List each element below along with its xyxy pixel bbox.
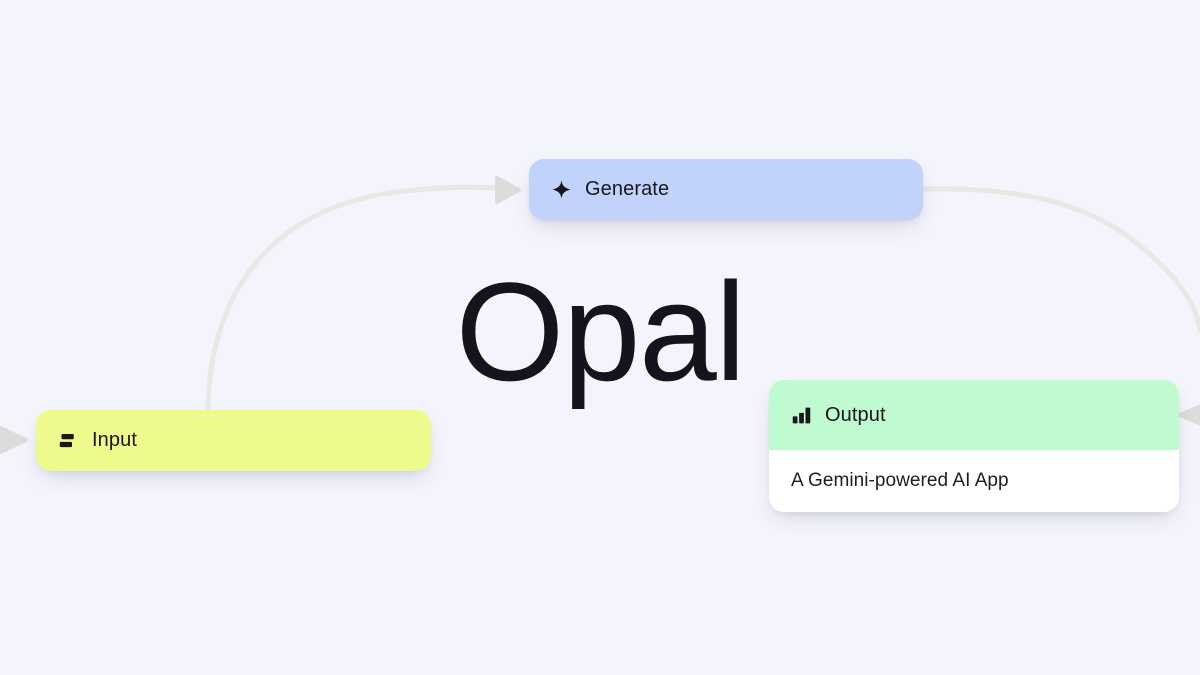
- node-generate[interactable]: Generate: [529, 159, 923, 220]
- node-output-label: Output: [825, 404, 886, 427]
- node-input-row: Input: [36, 410, 431, 471]
- arrowhead-input-icon: [0, 425, 26, 455]
- node-output[interactable]: Output A Gemini-powered AI App: [769, 380, 1179, 512]
- node-input-label: Input: [92, 429, 137, 452]
- input-bars-icon: [58, 430, 79, 451]
- node-generate-row: Generate: [529, 159, 923, 220]
- node-output-body-text: A Gemini-powered AI App: [791, 470, 1009, 492]
- node-output-body: A Gemini-powered AI App: [769, 450, 1179, 512]
- bar-chart-icon: [791, 405, 812, 426]
- arrowhead-output-icon: [1180, 404, 1200, 426]
- node-generate-label: Generate: [585, 178, 669, 201]
- sparkle-icon: [551, 179, 572, 200]
- node-output-header: Output: [769, 380, 1179, 450]
- arrowhead-generate-icon: [497, 178, 519, 202]
- node-input[interactable]: Input: [36, 410, 431, 471]
- opal-canvas: Opal Input Generate Output: [0, 0, 1200, 675]
